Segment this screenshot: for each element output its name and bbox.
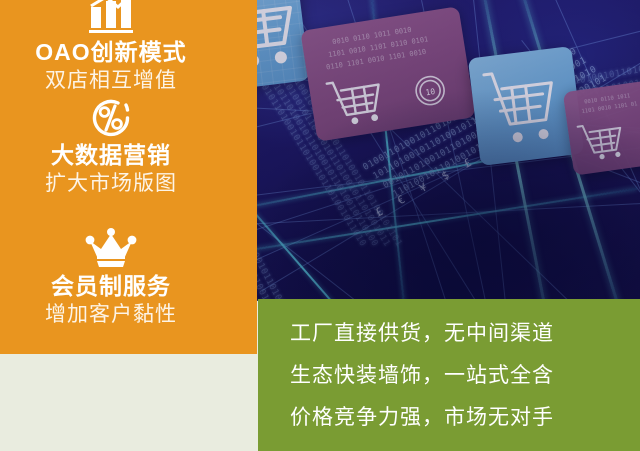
feature-subtitle: 双店相互增值: [0, 69, 222, 94]
feature-subtitle: 扩大市场版图: [0, 172, 222, 197]
feature-sidebar: OAO创新模式 双店相互增值 大数据营销 扩大市场版图: [0, 0, 257, 354]
crown-icon: [0, 228, 222, 268]
hero-image: 0100110101001011010010110100101101001011…: [222, 0, 640, 301]
selling-point-line: 价格竞争力强，市场无对手: [290, 397, 630, 439]
footer-blank-area: [0, 354, 258, 451]
svg-text:10: 10: [425, 87, 436, 97]
feature-title: 大数据营销: [0, 143, 222, 169]
selling-points-panel: 工厂直接供货，无中间渠道 生态快装墙饰，一站式全含 价格竞争力强，市场无对手: [258, 299, 640, 451]
feature-item-oao: OAO创新模式 双店相互增值: [0, 0, 222, 94]
shopping-cart-card-purple: 10 0010 0110 1011 0010 1101 0010 1101 01…: [300, 6, 476, 142]
feature-title: OAO创新模式: [0, 40, 222, 66]
selling-point-line: 生态快装墙饰，一站式全含: [290, 355, 630, 397]
feature-subtitle: 增加客户黏性: [0, 303, 222, 328]
feature-item-bigdata: 大数据营销 扩大市场版图: [0, 97, 222, 197]
promo-poster: 0100110101001011010010110100101101001011…: [0, 0, 640, 451]
shopping-cart-icon: 0010 0110 1011 1101 0010 1101 01: [563, 76, 640, 175]
selling-point-line: 工厂直接供货，无中间渠道: [290, 313, 630, 355]
feature-item-membership: 会员制服务 增加客户黏性: [0, 228, 222, 328]
feature-title: 会员制服务: [0, 274, 222, 300]
shopping-cart-icon: 10 0010 0110 1011 0010 1101 0010 1101 01…: [300, 6, 476, 142]
selling-points-list: 工厂直接供货，无中间渠道 生态快装墙饰，一站式全含 价格竞争力强，市场无对手: [290, 313, 630, 439]
shopping-cart-cards-layer: 10 0010 0110 1011 0010 1101 0010 1101 01…: [222, 0, 640, 301]
bar-chart-growth-icon: [0, 0, 222, 34]
percent-circle-icon: [0, 97, 222, 137]
shopping-cart-card-purple: 0010 0110 1011 1101 0010 1101 01: [563, 76, 640, 175]
